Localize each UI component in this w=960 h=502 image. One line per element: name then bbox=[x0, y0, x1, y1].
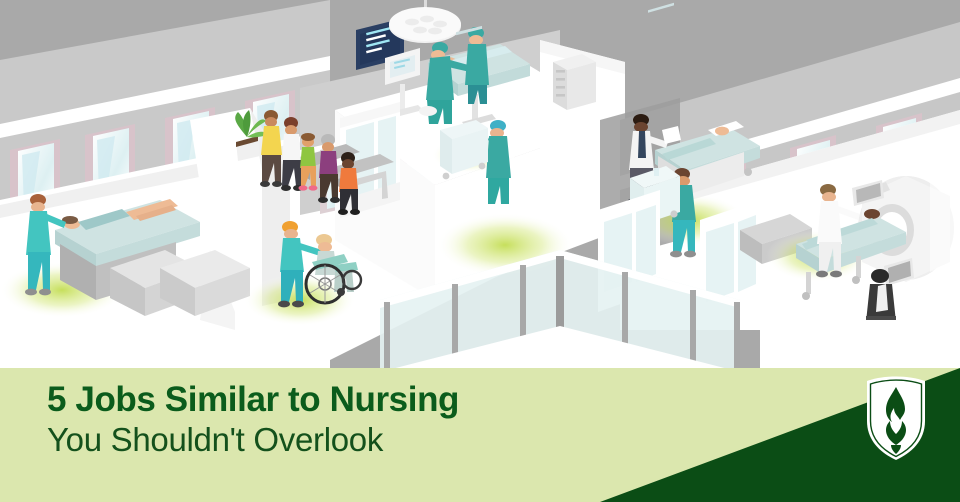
page-title: 5 Jobs Similar to Nursing bbox=[47, 382, 647, 417]
banner-text-block: 5 Jobs Similar to Nursing You Shouldn't … bbox=[47, 382, 647, 456]
shelf-unit bbox=[553, 54, 596, 110]
rasmussen-shield-logo bbox=[864, 375, 928, 461]
instrument-tray bbox=[419, 106, 437, 116]
page-subtitle: You Shouldn't Overlook bbox=[47, 423, 647, 456]
hero-banner-image: 5 Jobs Similar to Nursing You Shouldn't … bbox=[0, 0, 960, 502]
